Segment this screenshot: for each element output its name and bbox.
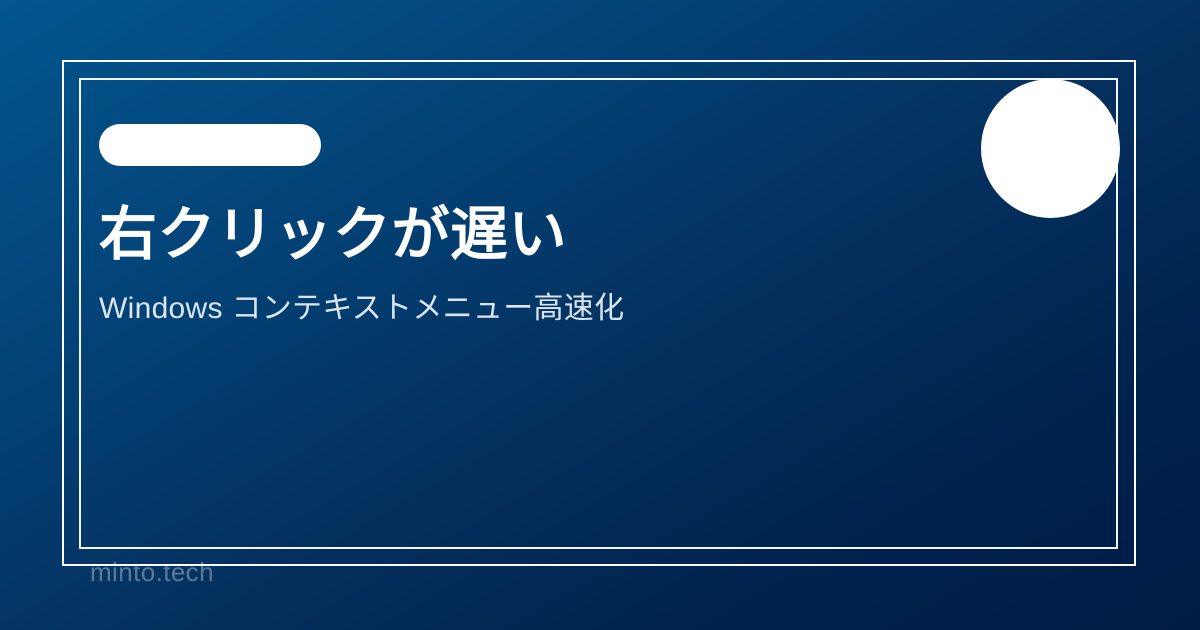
card-content: 右クリックが遅い Windows コンテキストメニュー高速化 xyxy=(99,124,959,328)
decorative-circle xyxy=(981,79,1120,218)
page-subtitle: Windows コンテキストメニュー高速化 xyxy=(99,271,959,328)
og-card-canvas: 右クリックが遅い Windows コンテキストメニュー高速化 minto.tec… xyxy=(0,0,1200,630)
page-title: 右クリックが遅い xyxy=(99,166,959,271)
site-watermark: minto.tech xyxy=(90,558,214,587)
category-badge xyxy=(99,124,321,166)
